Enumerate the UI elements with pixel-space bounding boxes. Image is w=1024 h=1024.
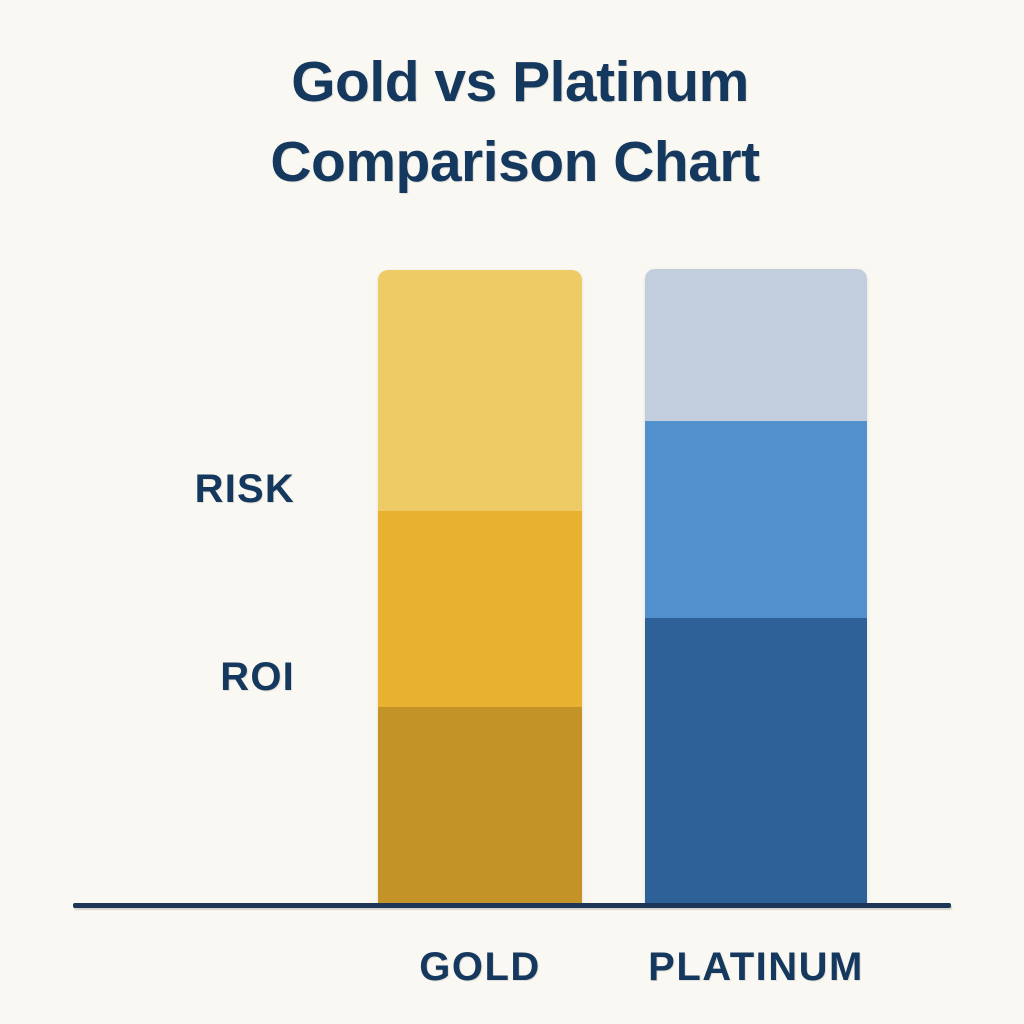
series-label-risk: RISK: [60, 467, 295, 512]
bar-gold-segment-roi[interactable]: [378, 511, 582, 707]
series-label-roi: ROI: [60, 655, 295, 700]
bar-gold[interactable]: [378, 270, 582, 903]
category-label-platinum: PLATINUM: [638, 945, 874, 990]
bar-gold-segment-base[interactable]: [378, 707, 582, 903]
bar-platinum-segment-roi[interactable]: [645, 421, 867, 618]
bar-gold-segment-risk[interactable]: [378, 270, 582, 511]
bar-platinum-segment-risk[interactable]: [645, 269, 867, 421]
plot-area: RISK ROI GOLD PLATINUM: [0, 0, 1024, 1024]
category-label-gold: GOLD: [378, 945, 582, 990]
bar-platinum-segment-base[interactable]: [645, 618, 867, 903]
axis-baseline: [73, 903, 951, 908]
chart-container: Gold vs Platinum Comparison Chart RISK R…: [0, 0, 1024, 1024]
bar-platinum[interactable]: [645, 269, 867, 903]
